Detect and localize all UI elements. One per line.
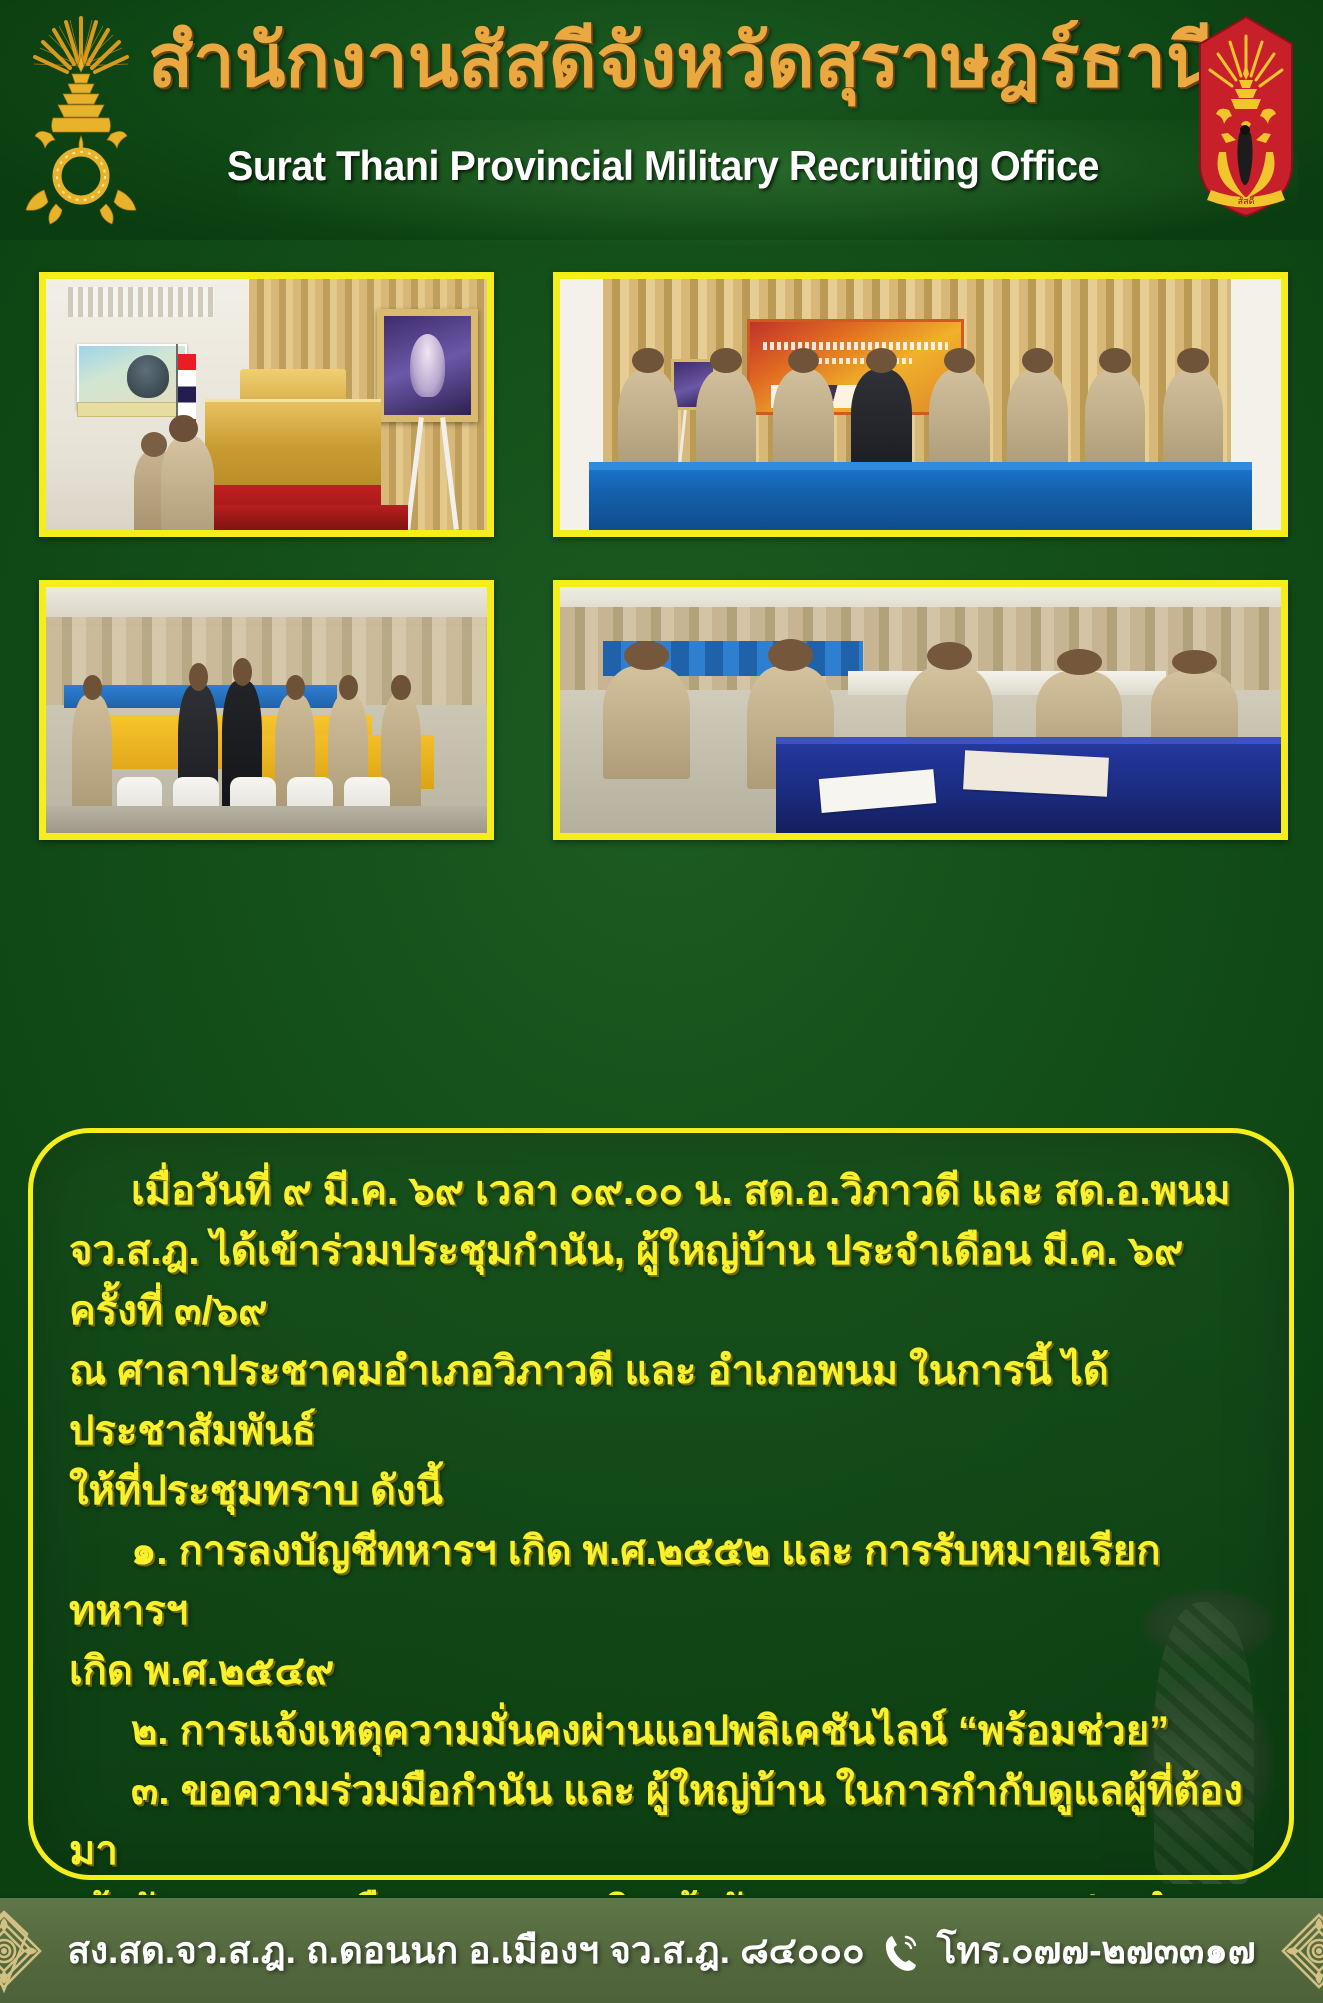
military-recruiting-shield-emblem: สัสดี — [1191, 14, 1301, 219]
photo2-person — [929, 369, 990, 475]
poster-footer: สง.สด.จว.ส.ฎ. ถ.ดอนนก อ.เมืองฯ จว.ส.ฎ. ๘… — [0, 1895, 1323, 2003]
photo1-person-b-kneeling — [161, 435, 214, 530]
footer-contact-line: สง.สด.จว.ส.ฎ. ถ.ดอนนก อ.เมืองฯ จว.ส.ฎ. ๘… — [47, 1921, 1275, 1980]
photo2-person — [1163, 369, 1224, 475]
footer-address: สง.สด.จว.ส.ฎ. ถ.ดอนนก อ.เมืองฯ จว.ส.ฎ. ๘… — [67, 1921, 864, 1980]
photo-group-with-banner[interactable] — [553, 272, 1288, 537]
header-title-thai: สำนักงานสัสดีจังหวัดสุราษฎร์ธานี — [148, 22, 1178, 100]
photo1-portrait-caption — [77, 402, 187, 417]
body-item-1: ๑. การลงบัญชีทหารฯ เกิด พ.ศ.๒๕๕๒ และ การ… — [69, 1521, 1259, 1641]
photo1-vent — [68, 287, 214, 317]
photo-seated-officers[interactable] — [553, 580, 1288, 840]
body-paragraph-3: ณ ศาลาประชาคมอำเภอวิภาวดี และ อำเภอพนม ใ… — [69, 1341, 1259, 1461]
announcement-text-panel: เมื่อวันที่ ๙ มี.ค. ๖๙ เวลา ๐๙.๐๐ น. สด.… — [28, 1128, 1294, 1880]
body-item-1-cont: เกิด พ.ศ.๒๕๔๙ — [69, 1641, 1259, 1701]
photo2-blue-table — [589, 470, 1252, 530]
body-paragraph-2: จว.ส.ฎ. ได้เข้าร่วมประชุมกำนัน, ผู้ใหญ่บ… — [69, 1221, 1259, 1341]
photo4-documents — [963, 751, 1109, 798]
header-title-english: Surat Thani Provincial Military Recruiti… — [179, 142, 1147, 190]
photo1-person-b-head — [169, 415, 198, 443]
poster-root: สำนักงานสัสดีจังหวัดสุราษฎร์ธานี Surat T… — [0, 0, 1323, 2003]
photo4-seated-officer — [603, 666, 690, 779]
footer-phone: โทร.๐๗๗-๒๗๓๓๑๗ — [937, 1921, 1256, 1980]
photo1-wall-portrait — [77, 344, 187, 409]
photo2-person — [1007, 369, 1068, 475]
photo-grid — [0, 264, 1323, 864]
photo4-table-edge — [776, 737, 1281, 744]
body-item-3: ๓. ขอความร่วมมือกำนัน และ ผู้ใหญ่บ้าน ใน… — [69, 1761, 1259, 1881]
photo-ceremony-royal-portrait[interactable] — [39, 272, 494, 537]
photo2-table-top — [589, 462, 1252, 470]
photo-meeting-hall-standing[interactable] — [39, 580, 494, 840]
phone-ringing-icon — [881, 1931, 921, 1971]
photo2-person — [1085, 369, 1146, 475]
photo2-person — [851, 369, 912, 475]
body-item-2: ๒. การแจ้งเหตุความมั่นคงผ่านแอปพลิเคชันไ… — [69, 1701, 1259, 1761]
photo1-easel — [399, 417, 465, 530]
thai-floral-diamond-ornament — [1276, 1908, 1323, 1994]
photo1-royal-portrait-frame — [377, 309, 478, 422]
svg-text:สัสดี: สัสดี — [1238, 196, 1255, 206]
royal-thai-crown-emblem — [18, 8, 144, 226]
photo2-person — [618, 369, 679, 475]
photo3-floor — [46, 806, 487, 833]
photo3-standing-person — [72, 695, 112, 823]
body-paragraph-4: ให้ที่ประชุมทราบ ดังนี้ — [69, 1461, 1259, 1521]
poster-header: สำนักงานสัสดีจังหวัดสุราษฎร์ธานี Surat T… — [0, 0, 1323, 240]
photo2-banner-text-line-1 — [763, 342, 948, 350]
thai-floral-diamond-ornament — [0, 1908, 47, 1994]
body-paragraph-1: เมื่อวันที่ ๙ มี.ค. ๖๙ เวลา ๐๙.๐๐ น. สด.… — [69, 1161, 1259, 1221]
announcement-body: เมื่อวันที่ ๙ มี.ค. ๖๙ เวลา ๐๙.๐๐ น. สด.… — [69, 1161, 1259, 2003]
photo2-people-row — [618, 354, 1224, 474]
photo2-person — [696, 369, 757, 475]
photo2-person — [773, 369, 834, 475]
